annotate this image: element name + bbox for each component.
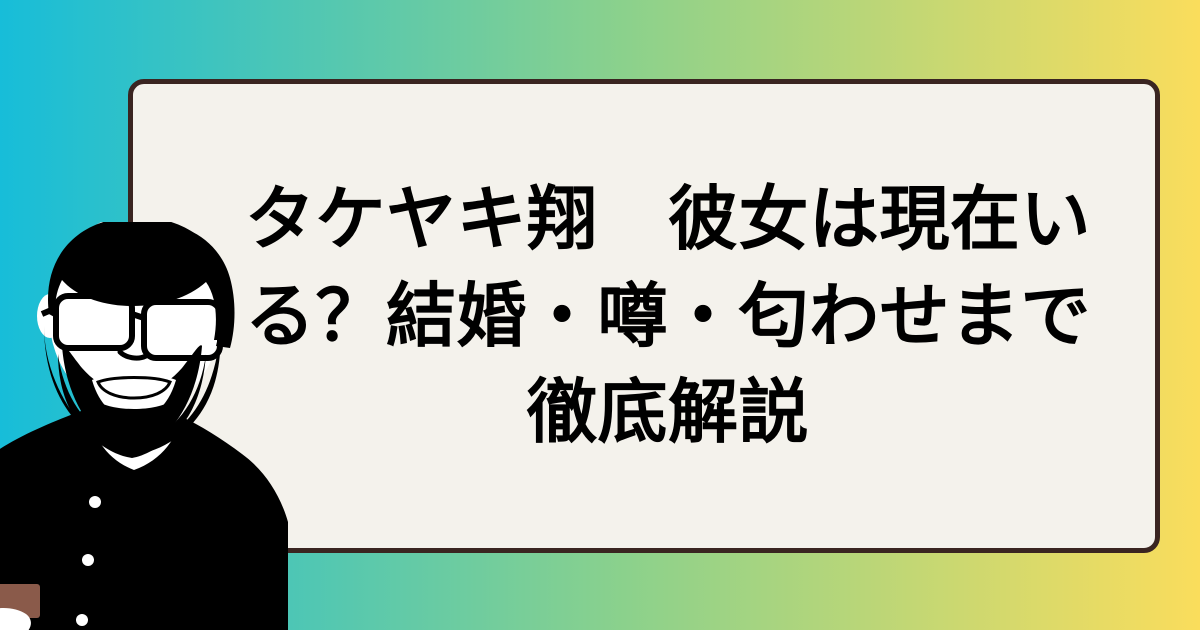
title-card: タケヤキ翔 彼女は現在い る？結婚・噂・匂わせまで 徹底解説 (128, 79, 1160, 553)
title-line-1: タケヤキ翔 彼女は現在い (245, 180, 1091, 258)
title-card-inner: タケヤキ翔 彼女は現在い る？結婚・噂・匂わせまで 徹底解説 (133, 84, 1155, 548)
page-title: タケヤキ翔 彼女は現在い る？結婚・噂・匂わせまで 徹底解説 (174, 171, 1114, 461)
thumbnail-canvas: タケヤキ翔 彼女は現在い る？結婚・噂・匂わせまで 徹底解説 (0, 0, 1200, 630)
title-line-2: る？結婚・噂・匂わせまで (245, 277, 1091, 355)
title-line-3: 徹底解説 (527, 373, 809, 451)
